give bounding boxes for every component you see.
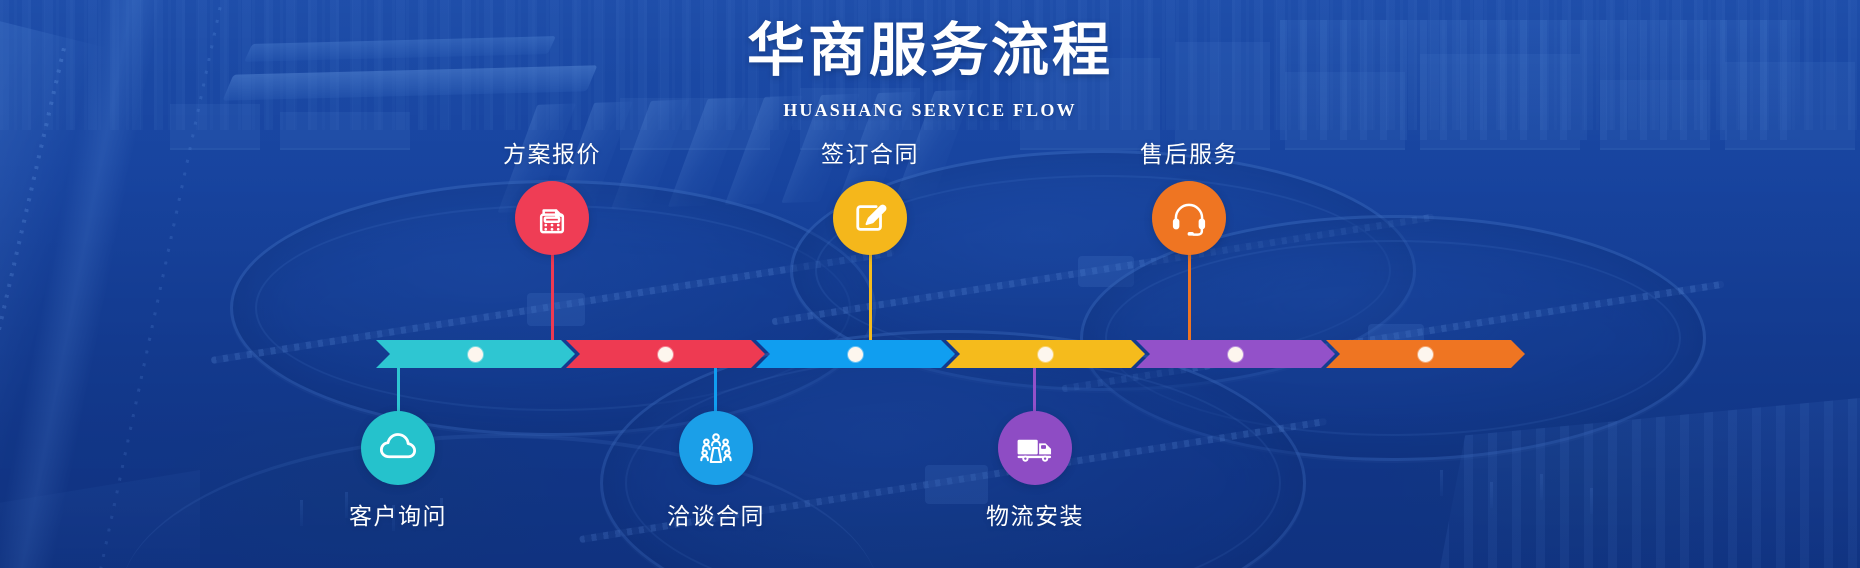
flow-dot-4 (1038, 347, 1053, 362)
flow-step-3[interactable]: 洽谈合同 (596, 411, 836, 531)
flow-segment-5[interactable] (1136, 340, 1335, 368)
flow-dot-5 (1228, 347, 1243, 362)
flow-segment-6[interactable] (1326, 340, 1525, 368)
flow-segment-3[interactable] (756, 340, 955, 368)
flow-segment-1[interactable] (376, 340, 575, 368)
flow-step-1-label: 客户询问 (278, 497, 518, 531)
flow-step-2-label: 方案报价 (432, 135, 672, 169)
process-flow-bar (376, 340, 1516, 368)
flow-dot-6 (1418, 347, 1433, 362)
flow-step-5[interactable]: 物流安装 (915, 411, 1155, 531)
service-flow-banner: 华商服务流程 HUASHANG SERVICE FLOW 客户询问 (0, 0, 1860, 568)
flow-step-1[interactable]: 客户询问 (278, 411, 518, 531)
flow-step-2[interactable]: 方案报价 (432, 135, 672, 255)
page-subtitle: HUASHANG SERVICE FLOW (0, 100, 1860, 121)
delivery-truck-icon (1013, 426, 1057, 470)
banner-header: 华商服务流程 HUASHANG SERVICE FLOW (0, 0, 1860, 121)
calculator-quote-icon (532, 198, 572, 238)
page-title: 华商服务流程 (0, 22, 1860, 80)
flow-step-5-circle[interactable] (998, 411, 1072, 485)
flow-step-3-circle[interactable] (679, 411, 753, 485)
flow-step-6[interactable]: 售后服务 (1069, 135, 1309, 255)
flow-step-2-circle[interactable] (515, 181, 589, 255)
flow-step-3-label: 洽谈合同 (596, 497, 836, 531)
meeting-table-icon (695, 427, 737, 469)
cloud-icon (377, 427, 419, 469)
flow-step-4[interactable]: 签订合同 (750, 135, 990, 255)
edit-pencil-icon (849, 197, 891, 239)
flow-step-6-circle[interactable] (1152, 181, 1226, 255)
flow-dot-2 (658, 347, 673, 362)
flow-step-5-label: 物流安装 (915, 497, 1155, 531)
flow-step-4-label: 签订合同 (750, 135, 990, 169)
flow-dot-3 (848, 347, 863, 362)
flow-dot-1 (468, 347, 483, 362)
flow-step-6-label: 售后服务 (1069, 135, 1309, 169)
flow-step-4-circle[interactable] (833, 181, 907, 255)
flow-segment-2[interactable] (566, 340, 765, 368)
headset-icon (1168, 197, 1210, 239)
flow-segment-4[interactable] (946, 340, 1145, 368)
flow-step-1-circle[interactable] (361, 411, 435, 485)
